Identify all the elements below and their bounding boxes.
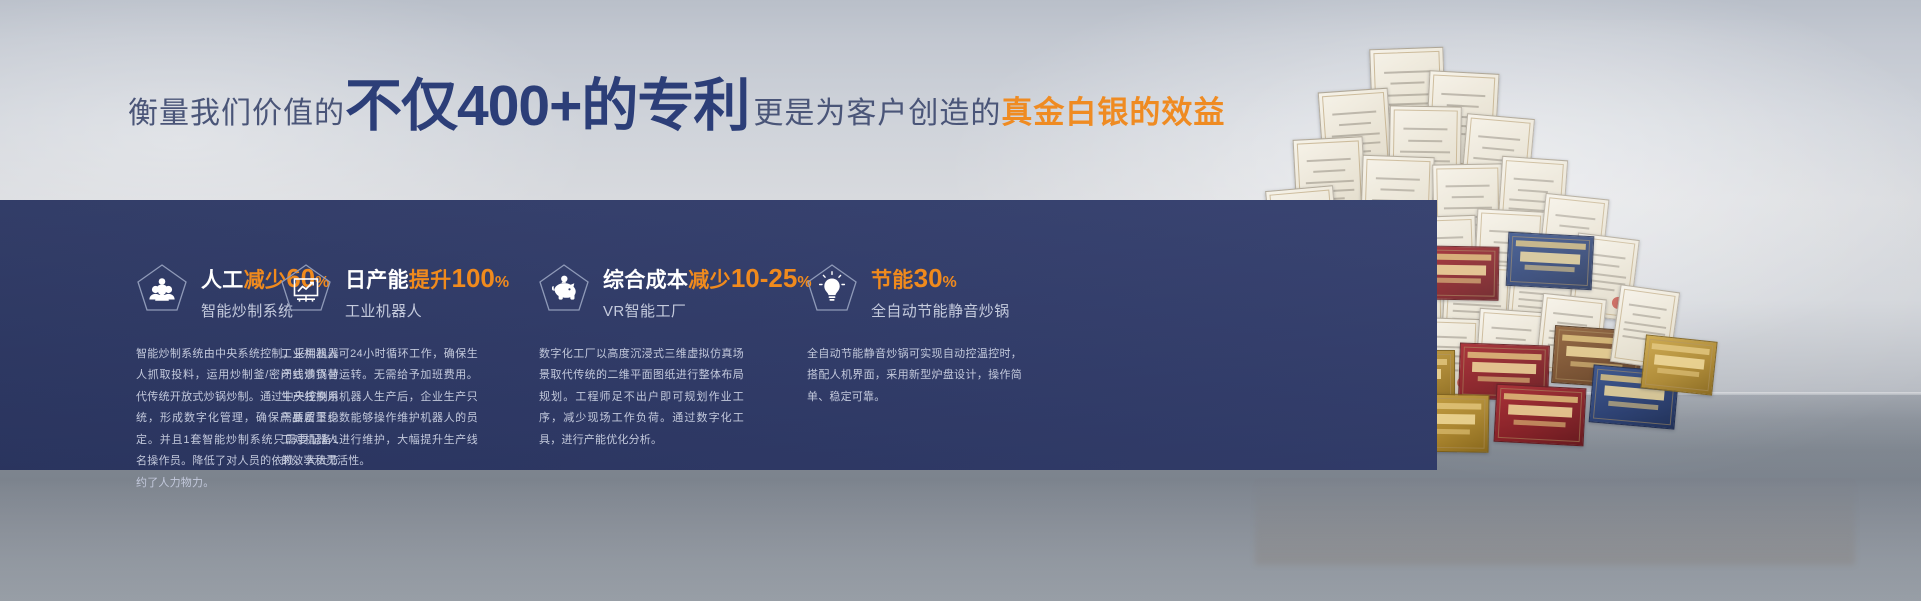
headline-lead: 衡量我们价值的 (128, 88, 345, 132)
feature-card-1: 人工减少60% 智能炒制系统 智能炒制系统由中央系统控制，采用机器人抓取投料，运… (0, 200, 268, 470)
feature-title-prefix: 日产能 (345, 269, 409, 292)
feature-title-number: 100 (452, 263, 495, 293)
feature-list: 人工减少60% 智能炒制系统 智能炒制系统由中央系统控制，采用机器人抓取投料，运… (0, 200, 1437, 470)
feature-subtitle: VR智能工厂 (603, 300, 812, 321)
feature-titles: 综合成本减少10-25% VR智能工厂 (603, 262, 812, 321)
feature-header: 综合成本减少10-25% VR智能工厂 (538, 262, 788, 321)
feature-body: 工业机器人可24小时循环工作，确保生产线满负荷运转。无需给予加班费用。生产线换用… (281, 344, 478, 473)
feature-titles: 日产能提升100% 工业机器人 (345, 262, 509, 321)
feature-subtitle: 工业机器人 (345, 300, 509, 321)
feature-body: 数字化工厂以高度沉浸式三维虚拟仿真场景取代传统的二维平面图纸进行整体布局规划。工… (539, 344, 744, 451)
feature-title-prefix: 综合成本 (603, 269, 688, 292)
feature-title-accent: 减少 (688, 269, 731, 292)
feature-subtitle: 全自动节能静音炒锅 (871, 300, 1010, 321)
promo-banner: 衡量我们价值的 不仅400+的专利 更是为客户创造的 真金白银的效益 (0, 0, 1921, 601)
lightbulb-icon (806, 263, 858, 313)
certificate-item (1506, 232, 1595, 290)
people-group-icon (136, 263, 188, 313)
feature-title-accent: 提升 (409, 269, 452, 292)
feature-body: 全自动节能静音炒锅可实现自动控温控时，搭配人机界面，采用新型炉盘设计，操作简单、… (807, 344, 1022, 408)
feature-card-3: 综合成本减少10-25% VR智能工厂 数字化工厂以高度沉浸式三维虚拟仿真场景取… (526, 200, 788, 470)
certificate-item (1640, 334, 1717, 395)
piggy-bank-icon (538, 263, 590, 313)
feature-title: 日产能提升100% (345, 264, 509, 294)
feature-title-accent: 节能 (871, 269, 914, 292)
feature-card-4: 节能30% 全自动节能静音炒锅 全自动节能静音炒锅可实现自动控温控时，搭配人机界… (788, 200, 1088, 470)
chart-board-icon (280, 263, 332, 313)
headline-middle: 更是为客户创造的 (753, 88, 1001, 132)
feature-header: 人工减少60% 智能炒制系统 (136, 262, 268, 321)
feature-title-unit: % (495, 274, 510, 291)
feature-title-unit: % (943, 274, 958, 291)
feature-title: 综合成本减少10-25% (603, 264, 812, 294)
headline-strong: 不仅400+的专利 (345, 78, 749, 135)
headline-accent: 真金白银的效益 (1001, 87, 1225, 132)
feature-title: 节能30% (871, 264, 1010, 294)
feature-card-2: 日产能提升100% 工业机器人 工业机器人可24小时循环工作，确保生产线满负荷运… (268, 200, 526, 470)
feature-title-number: 30 (914, 263, 943, 293)
feature-header: 节能30% 全自动节能静音炒锅 (806, 262, 1088, 321)
page-title: 衡量我们价值的 不仅400+的专利 更是为客户创造的 真金白银的效益 (128, 78, 1225, 136)
feature-title-prefix: 人工 (201, 269, 244, 292)
feature-panel: 人工减少60% 智能炒制系统 智能炒制系统由中央系统控制，采用机器人抓取投料，运… (0, 200, 1437, 470)
feature-titles: 节能30% 全自动节能静音炒锅 (871, 262, 1010, 321)
certificate-item (1494, 384, 1587, 447)
feature-header: 日产能提升100% 工业机器人 (280, 262, 526, 321)
